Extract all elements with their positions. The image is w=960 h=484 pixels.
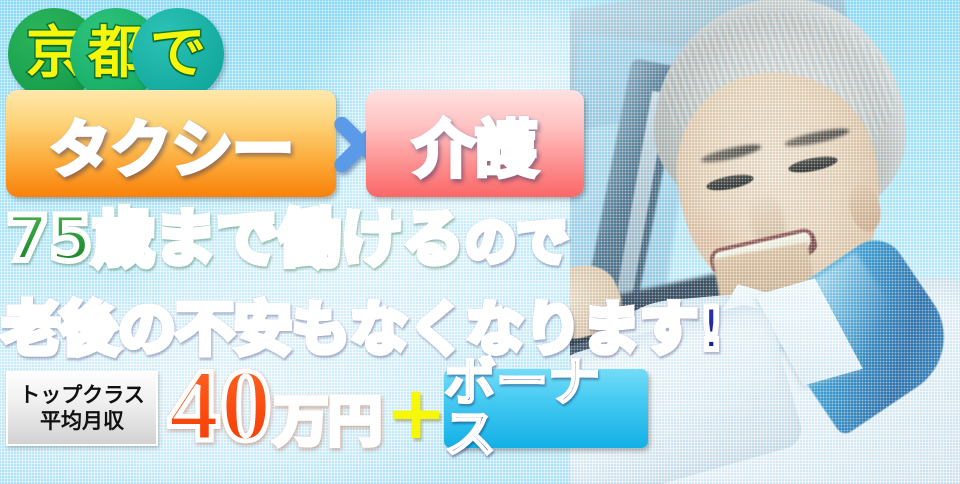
top-class-salary-tag: トップクラス 平均月収 <box>6 371 158 446</box>
headline-line-1: 75歳まで働けるので <box>6 206 568 271</box>
headline-green-text: 75歳まで働ける <box>6 202 464 275</box>
salary-amount-number: 40 <box>168 354 272 458</box>
taxi-plate-label: タクシー <box>49 99 293 189</box>
headline-blue-suffix: ので <box>464 213 568 273</box>
top-class-tag-line-2: 平均月収 <box>40 410 124 433</box>
kaigo-plate: 介護 <box>366 90 584 197</box>
plus-icon: + <box>385 376 447 450</box>
location-badge-char-3: で <box>150 26 206 82</box>
taxi-plate: タクシー <box>6 90 336 197</box>
bonus-badge: ボーナス <box>444 369 648 448</box>
salary-amount: 40 万円 <box>168 354 382 458</box>
kaigo-plate-label: 介護 <box>413 99 537 189</box>
salary-amount-unit: 万円 <box>274 395 382 449</box>
location-badge-circle-3: で <box>132 8 224 100</box>
bonus-badge-label: ボーナス <box>444 357 648 461</box>
recruitment-banner: 京 都 で タクシー 介護 75歳まで働けるので 老後の不安もなくなります! ト… <box>0 0 960 484</box>
top-class-tag-line-1: トップクラス <box>19 384 145 407</box>
